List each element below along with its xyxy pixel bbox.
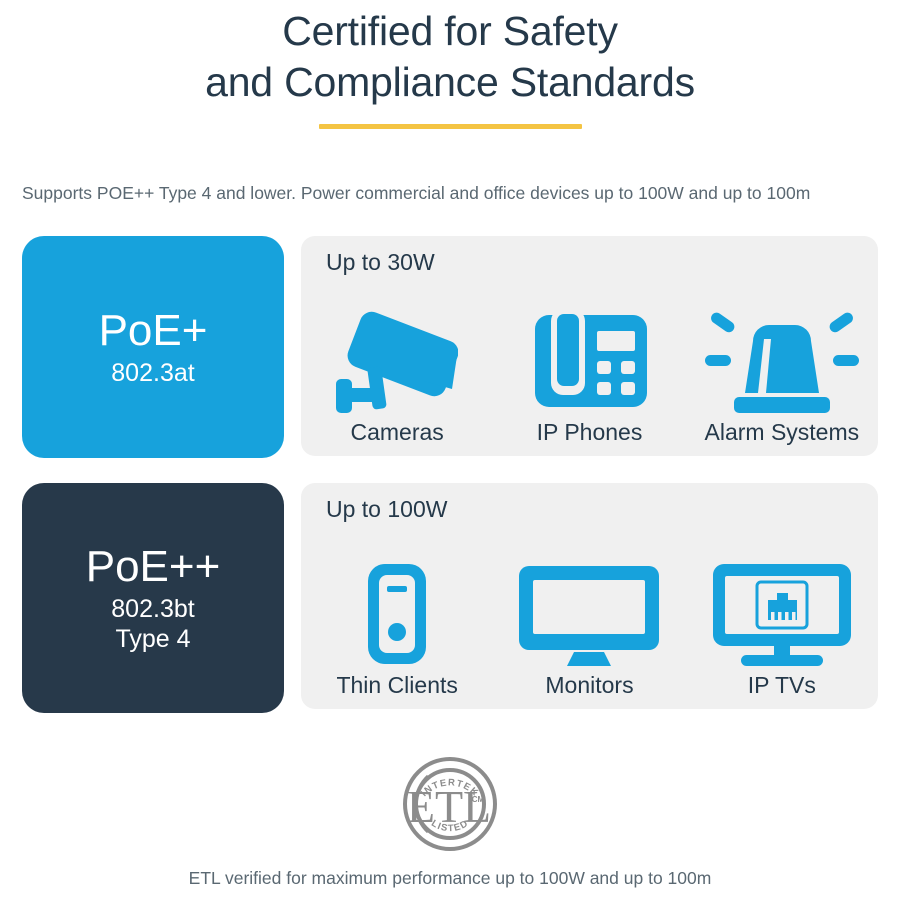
poe-plus-device-grid: Cameras [301,305,878,446]
etl-center-text: ETL [407,781,491,832]
device-thin-clients: Thin Clients [301,558,493,699]
poe-plusplus-badge-title: PoE++ [86,542,221,592]
poe-plusplus-wattage-heading: Up to 100W [326,496,447,523]
alarm-siren-icon [705,305,859,413]
page-title-line-1: Certified for Safety [282,8,618,54]
poe-plusplus-device-grid: Thin Clients Monit [301,558,878,699]
ip-phone-icon [531,305,647,413]
ip-tv-icon [713,558,851,666]
poe-plusplus-badge-type: Type 4 [115,624,190,654]
poe-plus-wattage-heading: Up to 30W [326,249,435,276]
page-title: Certified for Safety and Compliance Stan… [0,6,900,108]
page-title-line-2: and Compliance Standards [0,57,900,108]
device-monitors: Monitors [493,558,685,699]
device-label-thin-clients: Thin Clients [336,672,457,699]
device-ip-phones: IP Phones [493,305,685,446]
title-accent-underline [319,124,582,129]
device-label-cameras: Cameras [351,419,444,446]
poe-plus-device-panel: Up to 30W [301,236,878,456]
etl-listed-icon: INTERTEK LISTED ETL CM [398,752,502,856]
poe-plusplus-badge: PoE++ 802.3bt Type 4 [22,483,284,713]
poe-plusplus-row: PoE++ 802.3bt Type 4 Up to 100W [22,483,878,713]
device-cameras: Cameras [301,305,493,446]
header: Certified for Safety and Compliance Stan… [0,0,900,129]
monitor-icon [519,558,659,666]
device-label-monitors: Monitors [545,672,633,699]
poe-plus-badge: PoE+ 802.3at [22,236,284,458]
etl-superscript-text: CM [472,795,485,804]
footer-note: ETL verified for maximum performance up … [0,868,900,889]
etl-certification-mark-wrap: INTERTEK LISTED ETL CM [0,752,900,856]
device-label-ip-tvs: IP TVs [748,672,816,699]
device-alarm-systems: Alarm Systems [686,305,878,446]
device-label-ip-phones: IP Phones [537,419,643,446]
poe-plus-row: PoE+ 802.3at Up to 30W [22,236,878,458]
poe-plus-badge-title: PoE+ [99,306,208,356]
thin-client-icon [366,558,428,666]
poe-plusplus-badge-standard: 802.3bt [111,594,194,624]
security-camera-icon [336,305,458,413]
subtitle-text: Supports POE++ Type 4 and lower. Power c… [0,182,900,204]
device-ip-tvs: IP TVs [686,558,878,699]
poe-plus-badge-standard: 802.3at [111,358,194,388]
device-label-alarm-systems: Alarm Systems [705,419,860,446]
poe-plusplus-device-panel: Up to 100W [301,483,878,709]
